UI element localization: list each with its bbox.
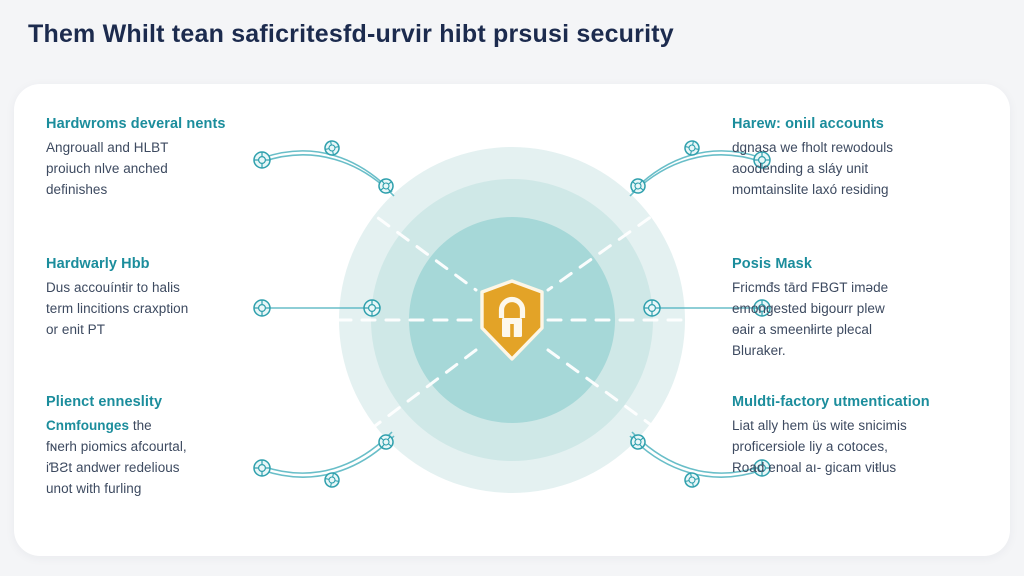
block-line: definishes [46, 180, 294, 201]
block-line: momtainslite laxó residing [732, 180, 980, 201]
block-subheading-suffix: the [133, 418, 152, 433]
block-subheading: Cnmfounges [46, 418, 129, 433]
block-body: Fricmđs tārd FBGT iməde emongested bigou… [732, 278, 980, 362]
block-line: Angrouall and HLBT [46, 138, 294, 159]
block-line: aoodending a sláy unit [732, 159, 980, 180]
block-line-accent: Cnmfounges the [46, 416, 294, 437]
block-line: unot with furling [46, 479, 294, 500]
block-line: emongested bigourr plew [732, 299, 980, 320]
block-line: or enit PT [46, 320, 294, 341]
info-block-hardware-hub: Hardwarly Hbb Dus accouínŧir to halis te… [46, 256, 294, 341]
block-line: Road enoal aı- gicam viŧlus [732, 458, 1000, 479]
block-heading: Harew: oniıl accounts [732, 116, 980, 133]
block-line: proiuch nlve anched [46, 159, 294, 180]
block-body: dgnasa we fholt rewodouls aoodending a s… [732, 138, 980, 201]
block-line: term lincitions craxption [46, 299, 294, 320]
block-heading: Plienct enneslity [46, 394, 294, 411]
info-block-client-ensibility: Plienct enneslity Cnmfounges the fɴerh p… [46, 394, 294, 500]
block-line: Bluraker. [732, 341, 980, 362]
block-line: dgnasa we fholt rewodouls [732, 138, 980, 159]
block-line: iƁƧt andwer redelious [46, 458, 294, 479]
block-body: Angrouall and HLBT proiuch nlve anched d… [46, 138, 294, 201]
block-heading: Muldti-factory utmentication [732, 394, 1000, 411]
block-line: Fricmđs tārd FBGT iməde [732, 278, 980, 299]
block-line: fɴerh piomics afcourtal, [46, 437, 294, 458]
block-heading: Hardwroms deveral nents [46, 116, 294, 133]
block-line: proficersiole liy a cotoces, [732, 437, 1000, 458]
info-block-hardware-elements: Hardwroms deveral nents Angrouall and HL… [46, 116, 294, 201]
block-body: Liat ally hem üs wite snicimis proficers… [732, 416, 1000, 479]
page-title: Them Whilt tean saficritesfd-urvir hibt … [28, 20, 674, 49]
infographic-card: Hardwroms deveral nents Angrouall and HL… [14, 84, 1010, 556]
info-block-multi-factor-authentication: Muldti-factory utmentication Liat ally h… [732, 394, 1000, 479]
block-heading: Hardwarly Hbb [46, 256, 294, 273]
info-block-hardware-accounts: Harew: oniıl accounts dgnasa we fholt re… [732, 116, 980, 201]
block-line: Liat ally hem üs wite snicimis [732, 416, 1000, 437]
block-heading: Posis Mask [732, 256, 980, 273]
shield-lock-icon [476, 278, 548, 362]
block-line: ɵair a smeenłirte plecal [732, 320, 980, 341]
block-body: Dus accouínŧir to halis term lincitions … [46, 278, 294, 341]
info-block-posis-mask: Posis Mask Fricmđs tārd FBGT iməde emong… [732, 256, 980, 362]
block-body: Cnmfounges the fɴerh piomics afcourtal, … [46, 416, 294, 500]
block-line: Dus accouínŧir to halis [46, 278, 294, 299]
